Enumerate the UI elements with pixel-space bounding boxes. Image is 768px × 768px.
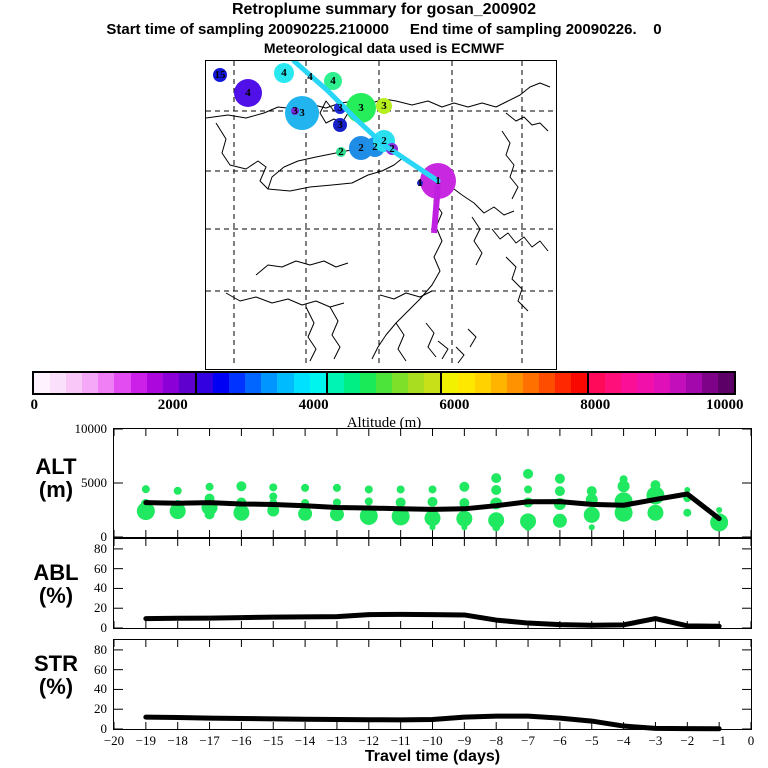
colorbar-swatch [229, 373, 245, 393]
alt-scatter-point [298, 507, 312, 521]
alt-scatter-point [491, 473, 501, 483]
alt-scatter-point [492, 523, 500, 531]
alt-scatter-point [333, 484, 341, 492]
colorbar-swatch [277, 373, 293, 393]
colorbar-tick-label: 6000 [439, 397, 469, 414]
colorbar-swatch [637, 373, 653, 393]
met-data-line: Meteorological data used is ECMWF [0, 39, 768, 57]
alt-scatter-point [236, 481, 246, 491]
xtick-label: −13 [327, 733, 347, 749]
alt-scatter-point [555, 486, 565, 496]
colorbar-swatch [621, 373, 637, 393]
alt-scatter-point [491, 485, 501, 495]
xtick-label: −4 [617, 733, 631, 749]
colorbar-swatch [491, 373, 507, 393]
abl-panel[interactable] [113, 538, 752, 629]
alt-scatter-point [430, 524, 436, 530]
colorbar-gradient [32, 371, 736, 395]
colorbar-swatch [605, 373, 621, 393]
xtick-label: −7 [521, 733, 535, 749]
str-ytick-label: 40 [47, 681, 107, 697]
alt-scatter-point [461, 524, 467, 530]
alt-scatter-point [584, 507, 600, 523]
colorbar-swatch [98, 373, 114, 393]
colorbar-swatch [686, 373, 702, 393]
colorbar-swatch [82, 373, 98, 393]
alt-scatter-point [301, 484, 309, 492]
xtick-label: −3 [649, 733, 663, 749]
alt-scatter-point [174, 487, 182, 495]
alt-scatter-point [524, 523, 532, 531]
colorbar-swatch [310, 373, 326, 393]
str-ytick-label: 0 [47, 721, 107, 737]
alt-scatter-point [269, 483, 277, 491]
abl-ytick-label: 20 [47, 600, 107, 616]
colorbar-swatch [376, 373, 392, 393]
colorbar-swatch [344, 373, 360, 393]
colorbar-tick-label: 8000 [580, 397, 610, 414]
xtick-label: 0 [748, 733, 755, 749]
colorbar-swatch [66, 373, 82, 393]
colorbar-swatch [179, 373, 195, 393]
colorbar-swatch [360, 373, 376, 393]
sampling-time-line: Start time of sampling 20090225.210000 E… [0, 20, 768, 39]
str-ytick-label: 80 [47, 642, 107, 658]
colorbar-swatch [34, 373, 50, 393]
colorbar-swatch [587, 373, 605, 393]
alt-scatter-point [456, 511, 472, 527]
xtick-label: −16 [231, 733, 251, 749]
alt-scatter-point [206, 483, 214, 491]
colorbar-swatch [408, 373, 424, 393]
alt-scatter-point [589, 524, 595, 530]
xtick-label: −5 [585, 733, 599, 749]
colorbar-swatch [507, 373, 523, 393]
colorbar-swatch [326, 373, 344, 393]
colorbar-swatch [670, 373, 686, 393]
colorbar-swatch [392, 373, 408, 393]
abl-ytick-label: 40 [47, 580, 107, 596]
alt-scatter-point [428, 497, 438, 507]
alt-scatter-point [524, 485, 532, 493]
alt-scatter-point [650, 480, 660, 490]
xtick-label: −17 [199, 733, 219, 749]
str-ytick-label: 20 [47, 701, 107, 717]
colorbar-tick-label: 4000 [299, 397, 329, 414]
alt-scatter-point [365, 497, 373, 505]
colorbar-swatch [440, 373, 458, 393]
alt-panel[interactable] [113, 428, 752, 538]
colorbar-swatch [702, 373, 718, 393]
alt-scatter-point [620, 475, 628, 483]
page-title: Retroplume summary for gosan_200902 [0, 0, 768, 20]
colorbar-swatch [131, 373, 147, 393]
xtick-label: −15 [263, 733, 283, 749]
xtick-label: −12 [359, 733, 379, 749]
xtick-label: −19 [136, 733, 156, 749]
colorbar-swatch [163, 373, 179, 393]
colorbar-swatch [261, 373, 277, 393]
colorbar-swatch [523, 373, 539, 393]
colorbar-swatch [195, 373, 213, 393]
xtick-label: −18 [168, 733, 188, 749]
xtick-label: −11 [391, 733, 411, 749]
alt-scatter-point [459, 482, 469, 492]
xaxis-title: Travel time (days) [113, 748, 752, 766]
trajectory-map[interactable]: 1544443333332222211 [205, 60, 557, 370]
trajectory-line [206, 61, 554, 367]
abl-ytick-label: 0 [47, 620, 107, 636]
receptor-tail [434, 185, 438, 233]
colorbar-swatch [213, 373, 229, 393]
xtick-label: −6 [553, 733, 567, 749]
alt-scatter-point [716, 507, 722, 513]
header-block: Retroplume summary for gosan_200902 Star… [0, 0, 768, 57]
str-panel[interactable] [113, 639, 752, 730]
colorbar-swatch [654, 373, 670, 393]
alt-scatter-point [553, 514, 567, 528]
xtick-label: −8 [489, 733, 503, 749]
colorbar-tick-label: 2000 [158, 397, 188, 414]
colorbar-swatch [245, 373, 261, 393]
alt-scatter-point [396, 497, 406, 507]
colorbar-swatch [571, 373, 587, 393]
alt-scatter-point [397, 485, 405, 493]
colorbar-tick-label: 0 [31, 397, 39, 414]
alt-scatter-point [647, 505, 663, 521]
alt-scatter-point [425, 510, 441, 526]
xtick-label: −10 [422, 733, 442, 749]
colorbar-swatch [50, 373, 66, 393]
alt-scatter-point [429, 485, 437, 493]
xtick-label: −2 [680, 733, 694, 749]
colorbar-swatch [114, 373, 130, 393]
alt-scatter-point [683, 509, 691, 517]
colorbar-swatch [458, 373, 474, 393]
alt-ytick-label: 10000 [47, 421, 107, 437]
alt-scatter-point [555, 474, 565, 484]
colorbar-swatch [294, 373, 310, 393]
xtick-label: −1 [712, 733, 726, 749]
colorbar-swatch [147, 373, 163, 393]
alt-scatter-point [365, 485, 373, 493]
colorbar-swatch [555, 373, 571, 393]
colorbar-tick-label: 10000 [706, 397, 744, 414]
abl-ytick-label: 60 [47, 561, 107, 577]
xtick-label: −20 [104, 733, 124, 749]
colorbar-swatch [718, 373, 734, 393]
xtick-label: −14 [295, 733, 315, 749]
alt-scatter-point [523, 469, 533, 479]
str-ytick-label: 60 [47, 662, 107, 678]
alt-scatter-point [587, 486, 597, 496]
xtick-label: −9 [457, 733, 471, 749]
alt-scatter-point [142, 485, 150, 493]
colorbar-swatch [424, 373, 440, 393]
alt-scatter-point [269, 493, 277, 501]
altitude-colorbar: 0200040006000800010000 Altitude (m) [32, 371, 736, 395]
abl-ytick-label: 80 [47, 541, 107, 557]
trajectory-polyline [294, 61, 438, 181]
colorbar-swatch [539, 373, 555, 393]
alt-ytick-label: 5000 [47, 475, 107, 491]
colorbar-swatch [475, 373, 491, 393]
